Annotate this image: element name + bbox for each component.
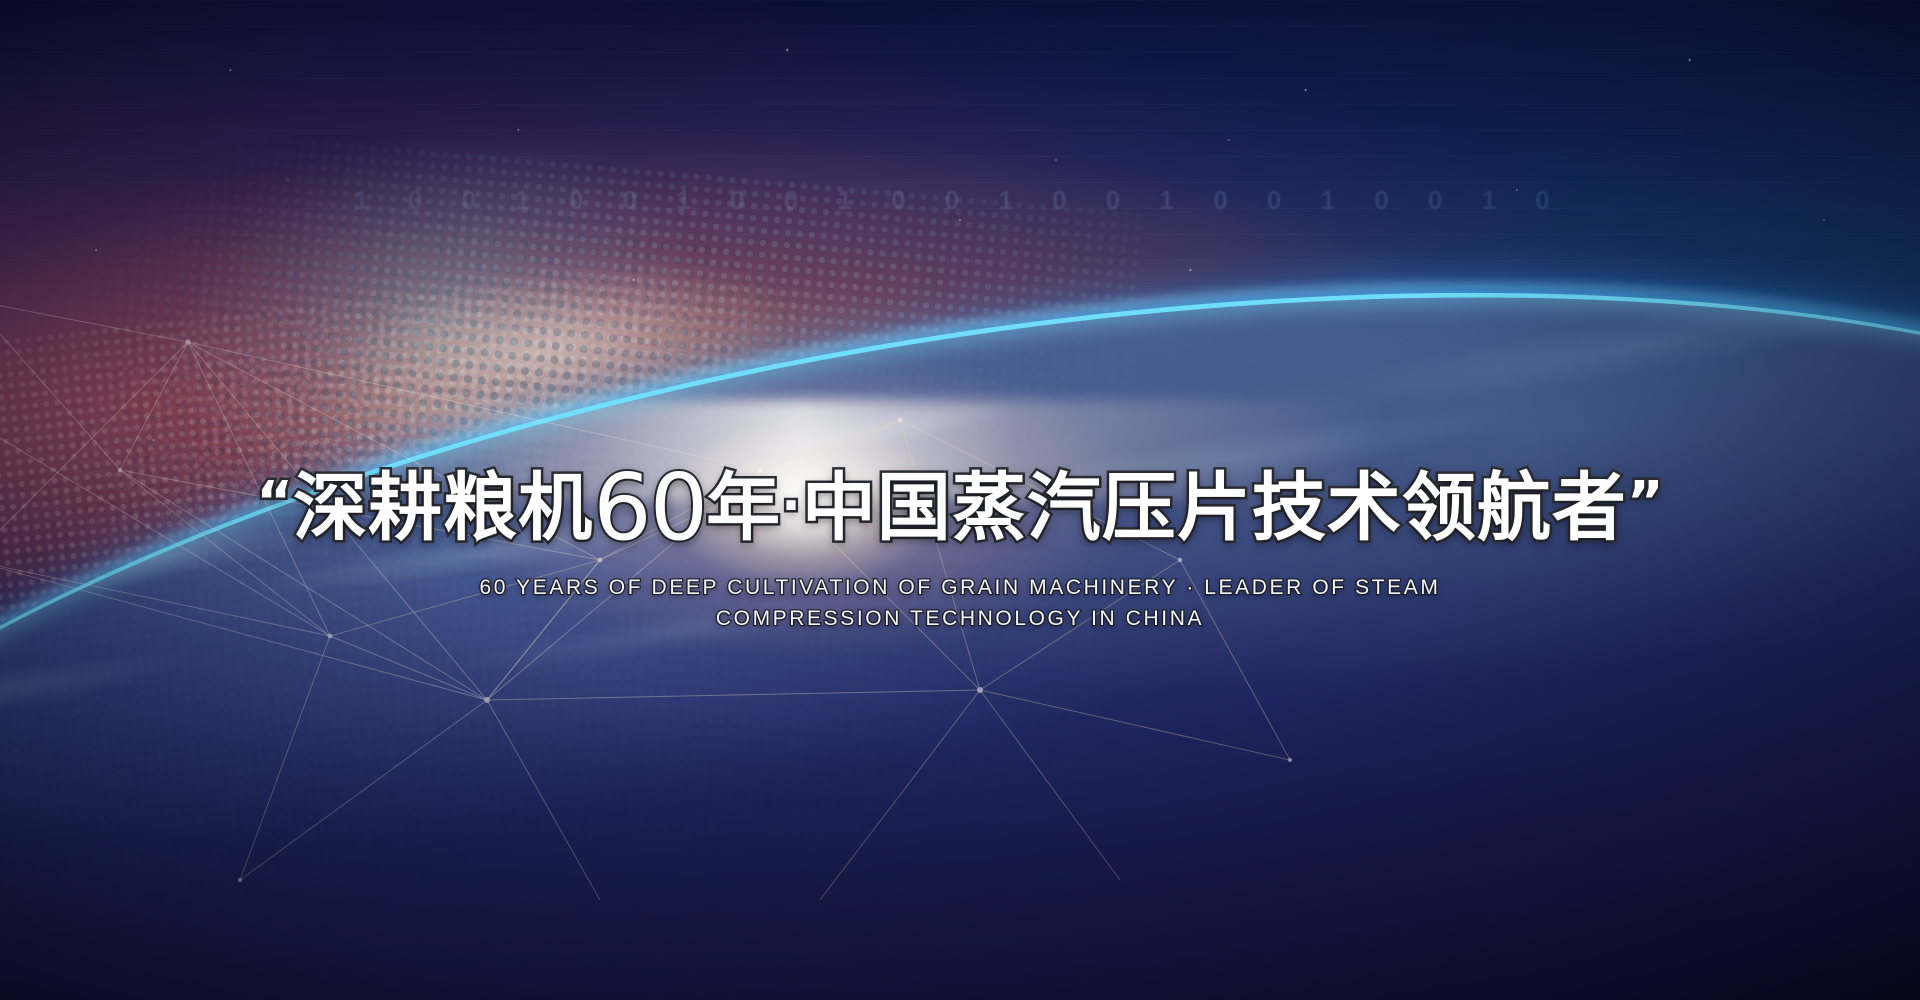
hero-text-block: “深耕粮机60年·中国蒸汽压片技术领航者” 60 YEARS OF DEEP C… (0, 462, 1920, 634)
headline-part3: 中国蒸汽压片技术领航者 (802, 465, 1627, 551)
headline-number: 60 (593, 454, 706, 561)
scan-lines (0, 0, 1920, 300)
headline-separator: · (781, 476, 802, 536)
open-quote: “ (256, 470, 293, 535)
headline-part2: 年 (706, 465, 781, 551)
page-title: “深耕粮机60年·中国蒸汽压片技术领航者” (0, 462, 1920, 554)
headline-part1: 深耕粮机 (293, 465, 593, 551)
subtitle-line-2: COMPRESSION TECHNOLOGY IN CHINA (0, 603, 1920, 634)
hero-banner: 1 0 0 1 0 0 1 0 0 1 0 0 1 0 0 1 0 0 1 0 … (0, 0, 1920, 1000)
close-quote: ” (1627, 470, 1664, 535)
page-subtitle: 60 YEARS OF DEEP CULTIVATION OF GRAIN MA… (0, 572, 1920, 634)
binary-code-band: 1 0 0 1 0 0 1 0 0 1 0 0 1 0 0 1 0 0 1 0 … (0, 175, 1920, 225)
subtitle-line-1: 60 YEARS OF DEEP CULTIVATION OF GRAIN MA… (480, 576, 1441, 599)
